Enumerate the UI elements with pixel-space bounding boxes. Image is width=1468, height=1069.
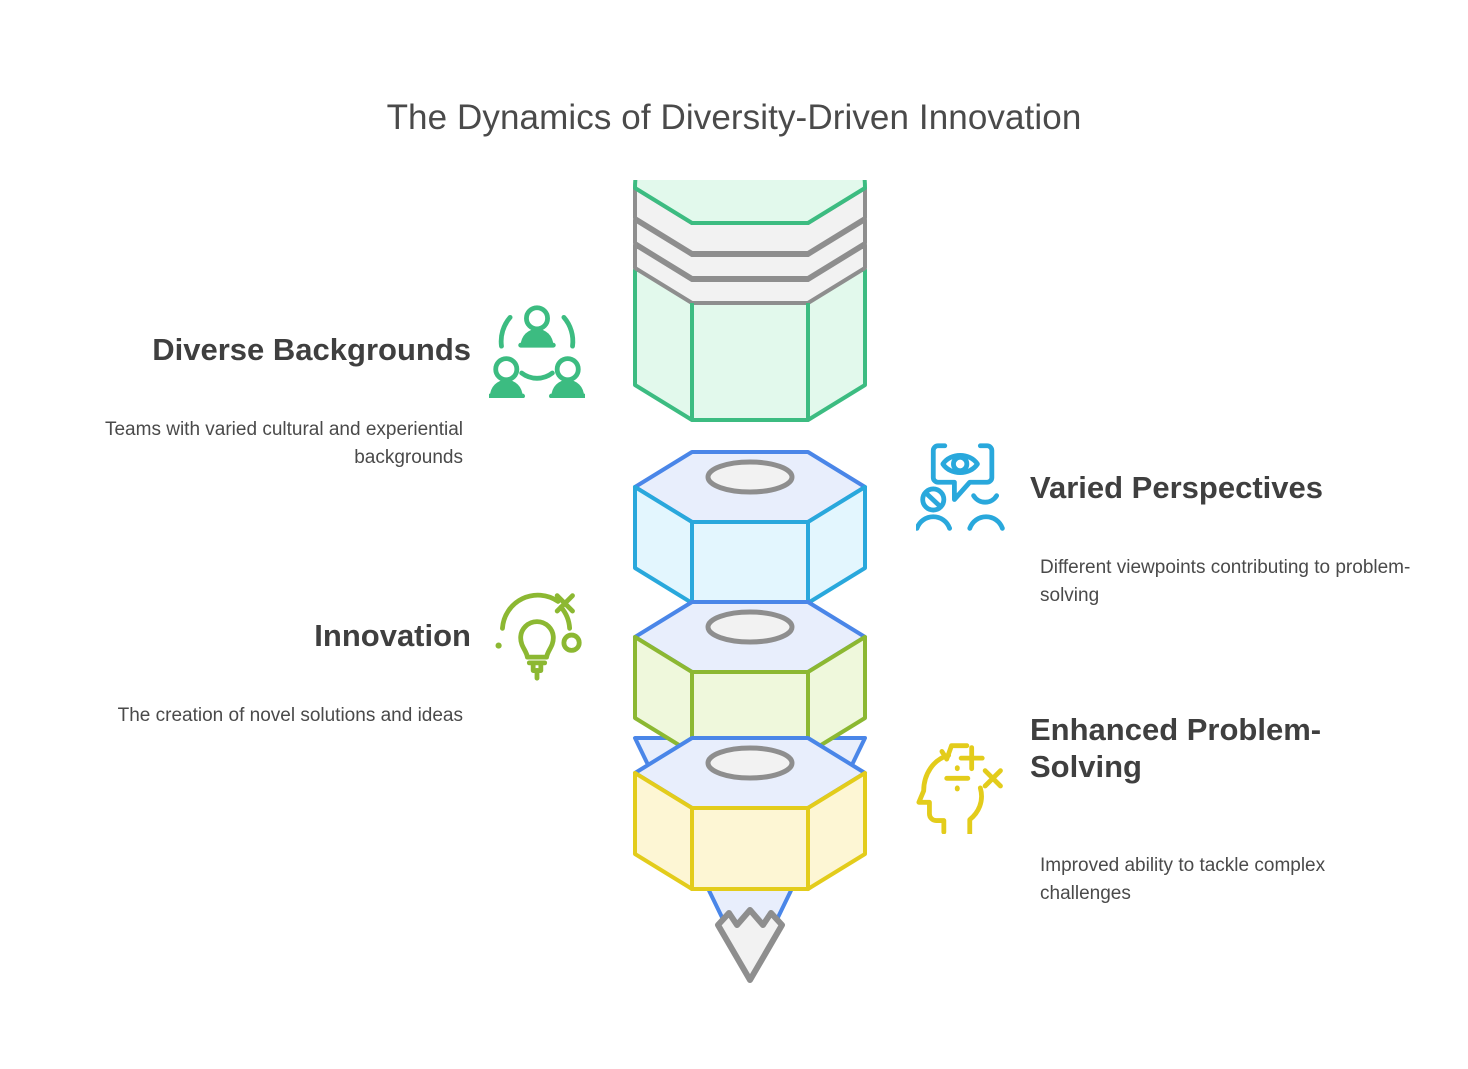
lightbulb-icon: [489, 588, 585, 684]
funnel-diagram: [600, 180, 900, 990]
team-people-icon: [489, 302, 585, 398]
eye-speech-bubble-icon: [916, 440, 1012, 536]
label-head-enhanced-problem-solving: Enhanced Problem-Solving: [916, 712, 1416, 834]
segment-innovation: [635, 602, 865, 753]
label-title-enhanced-problem-solving: Enhanced Problem-Solving: [1030, 712, 1416, 785]
segment-enhanced-problem-solving: [635, 738, 865, 889]
yellow-hole: [708, 748, 792, 778]
page-title: The Dynamics of Diversity-Driven Innovat…: [0, 98, 1468, 138]
cyan-hole: [708, 462, 792, 492]
segment-diverse-backgrounds: [635, 180, 865, 420]
segment-varied-perspectives: [635, 452, 865, 603]
label-title-diverse-backgrounds: Diverse Backgrounds: [152, 332, 471, 369]
lime-hole: [708, 612, 792, 642]
label-block-innovation: Innovation The creation of novel solutio…: [60, 588, 585, 730]
label-desc-enhanced-problem-solving: Improved ability to tackle complex chall…: [1040, 852, 1412, 907]
label-head-varied-perspectives: Varied Perspectives: [916, 440, 1416, 536]
label-block-varied-perspectives: Varied Perspectives Different viewpoints…: [916, 440, 1416, 609]
label-desc-varied-perspectives: Different viewpoints contributing to pro…: [1040, 554, 1412, 609]
label-block-enhanced-problem-solving: Enhanced Problem-Solving Improved abilit…: [916, 712, 1416, 907]
label-block-diverse-backgrounds: Diverse Backgrounds Teams with varied cu…: [60, 302, 585, 471]
yellow-face-front: [692, 808, 808, 889]
label-head-innovation: Innovation: [60, 588, 585, 684]
label-title-varied-perspectives: Varied Perspectives: [1030, 470, 1323, 507]
label-desc-diverse-backgrounds: Teams with varied cultural and experient…: [63, 416, 463, 471]
cyan-face-front: [692, 522, 808, 603]
head-math-symbols-icon: [916, 738, 1012, 834]
label-title-innovation: Innovation: [314, 618, 471, 655]
label-head-diverse-backgrounds: Diverse Backgrounds: [60, 302, 585, 398]
label-desc-innovation: The creation of novel solutions and idea…: [63, 702, 463, 730]
cone-zigzag-tip: [718, 910, 782, 980]
